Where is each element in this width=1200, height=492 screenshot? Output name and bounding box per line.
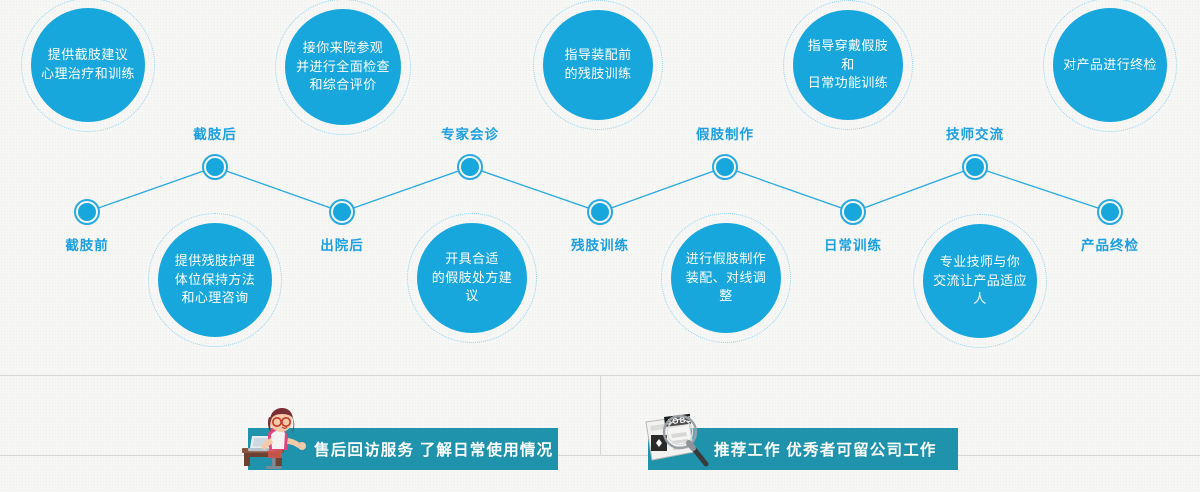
timeline-node-label: 技师交流 [946, 123, 1004, 143]
woman-at-desk-icon [238, 408, 312, 470]
info-bubble-text: 对产品进行终检 [1053, 56, 1167, 75]
timeline-node-9[interactable] [1101, 203, 1119, 221]
timeline-node-4[interactable] [461, 158, 479, 176]
timeline-node-label: 专家会诊 [441, 123, 499, 143]
timeline-node-label: 截肢前 [65, 234, 109, 254]
info-bubble-9[interactable]: 专业技师与你交流让产品适应人 [923, 224, 1037, 338]
timeline-node-2[interactable] [206, 158, 224, 176]
jobs-magnifier-icon: JOBS [638, 408, 712, 470]
info-bubble-7[interactable]: 开具合适的假肢处方建议 [417, 223, 527, 333]
timeline-node-7[interactable] [844, 203, 862, 221]
footer-banner-aftersales[interactable]: 售后回访服务 了解日常使用情况 [248, 428, 558, 470]
info-bubble-8[interactable]: 进行假肢制作装配、对线调整 [671, 223, 781, 333]
info-bubble-text: 专业技师与你交流让产品适应人 [923, 253, 1037, 310]
info-bubble-5[interactable]: 对产品进行终检 [1053, 8, 1167, 122]
info-bubble-text: 开具合适的假肢处方建议 [417, 250, 527, 307]
info-bubble-4[interactable]: 指导穿戴假肢和日常功能训练 [793, 10, 903, 120]
info-bubble-text: 提供残肢护理体位保持方法和心理咨询 [165, 252, 265, 309]
timeline-node-label: 日常训练 [824, 234, 882, 254]
info-bubble-3[interactable]: 指导装配前的残肢训练 [543, 10, 653, 120]
info-bubble-2[interactable]: 接你来院参观并进行全面检查和综合评价 [285, 9, 401, 125]
timeline-node-8[interactable] [966, 158, 984, 176]
timeline-node-3[interactable] [333, 203, 351, 221]
info-bubble-text: 指导穿戴假肢和日常功能训练 [793, 37, 903, 94]
info-bubble-1[interactable]: 提供截肢建议心理治疗和训练 [31, 8, 145, 122]
info-bubble-text: 接你来院参观并进行全面检查和综合评价 [286, 39, 400, 96]
info-bubble-6[interactable]: 提供残肢护理体位保持方法和心理咨询 [158, 223, 272, 337]
info-bubble-text: 进行假肢制作装配、对线调整 [671, 250, 781, 307]
timeline-node-6[interactable] [716, 158, 734, 176]
footer-banner-jobs[interactable]: JOBS 推荐工作 优秀者可留公司工作 [648, 428, 958, 470]
info-bubble-text: 提供截肢建议心理治疗和训练 [31, 46, 145, 84]
timeline-node-1[interactable] [78, 203, 96, 221]
timeline-node-5[interactable] [591, 203, 609, 221]
timeline-node-label: 残肢训练 [571, 234, 629, 254]
timeline-node-label: 假肢制作 [696, 123, 754, 143]
timeline-node-label: 产品终检 [1081, 234, 1139, 254]
timeline-node-label: 出院后 [320, 234, 364, 254]
info-bubble-text: 指导装配前的残肢训练 [554, 46, 641, 84]
timeline-node-label: 截肢后 [193, 123, 237, 143]
